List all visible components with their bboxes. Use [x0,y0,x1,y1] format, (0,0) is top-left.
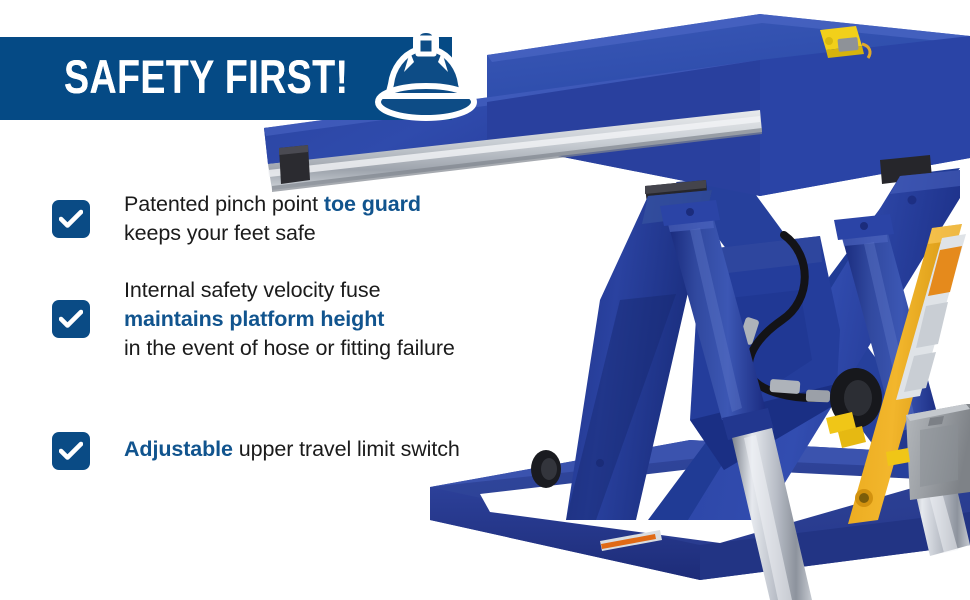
electrical-enclosure [906,404,970,500]
feature-item-velocity-fuse: Internal safety velocity fuse maintains … [52,300,455,363]
page-title: SAFETY FIRST! [64,49,348,105]
hard-hat-icon [362,24,490,132]
feature-line: maintains platform height [124,305,455,334]
safety-first-banner: SAFETY FIRST! [0,0,970,600]
feature-line: Adjustable upper travel limit switch [124,435,460,464]
feature-span-highlight: maintains platform height [124,307,384,331]
feature-line: keeps your feet safe [124,219,421,248]
feature-text: Patented pinch point toe guard keeps you… [124,190,421,248]
feature-span: in the event of hose or fitting failure [124,336,455,360]
feature-text: Internal safety velocity fuse maintains … [124,276,455,363]
feature-span: upper travel limit switch [233,437,460,461]
feature-span: Patented pinch point [124,192,324,216]
feature-text: Adjustable upper travel limit switch [124,435,460,464]
base-pivot-roller [531,450,561,488]
feature-span: keeps your feet safe [124,221,316,245]
check-icon [52,300,90,338]
feature-span: Internal safety velocity fuse [124,278,380,302]
feature-line: Patented pinch point toe guard [124,190,421,219]
feature-item-limit-switch: Adjustable upper travel limit switch [52,432,460,470]
feature-line: in the event of hose or fitting failure [124,334,455,363]
feature-line: Internal safety velocity fuse [124,276,455,305]
feature-item-toe-guard: Patented pinch point toe guard keeps you… [52,200,421,248]
check-icon [52,200,90,238]
feature-span-highlight: Adjustable [124,437,233,461]
feature-span-highlight: toe guard [324,192,421,216]
check-icon [52,432,90,470]
